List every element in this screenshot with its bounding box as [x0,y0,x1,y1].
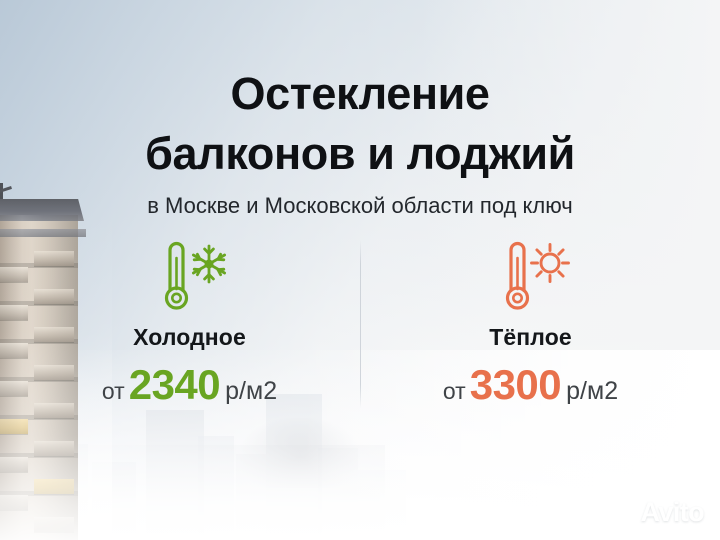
option-price: от3300р/м2 [381,363,681,413]
column-divider [360,240,361,408]
option-warm: Тёплое от3300р/м2 [381,236,681,413]
pricing-options: Холодное от2340р/м2 [0,236,720,413]
page-title: Остекление балконов и лоджий [0,64,720,184]
price-amount: 3300 [470,361,561,408]
avito-dots-logo-icon [609,501,635,525]
promo-banner: Остекление балконов и лоджий в Москве и … [0,0,720,540]
option-label: Холодное [40,324,340,351]
price-prefix: от [443,378,466,404]
banner-content: Остекление балконов и лоджий в Москве и … [0,0,720,540]
option-label: Тёплое [381,324,681,351]
price-prefix: от [102,378,125,404]
avito-watermark: Avito [609,499,705,526]
headline-line-1: Остекление [0,64,720,124]
option-price: от2340р/м2 [40,363,340,413]
thermometer-sun-icon [381,236,681,318]
headline-line-2: балконов и лоджий [0,124,720,184]
avito-watermark-text: Avito [641,499,705,526]
price-amount: 2340 [129,361,220,408]
thermometer-snowflake-icon [40,236,340,318]
subtitle: в Москве и Московской области под ключ [0,192,720,220]
price-unit: р/м2 [566,377,618,405]
option-cold: Холодное от2340р/м2 [40,236,340,413]
price-unit: р/м2 [225,377,277,405]
